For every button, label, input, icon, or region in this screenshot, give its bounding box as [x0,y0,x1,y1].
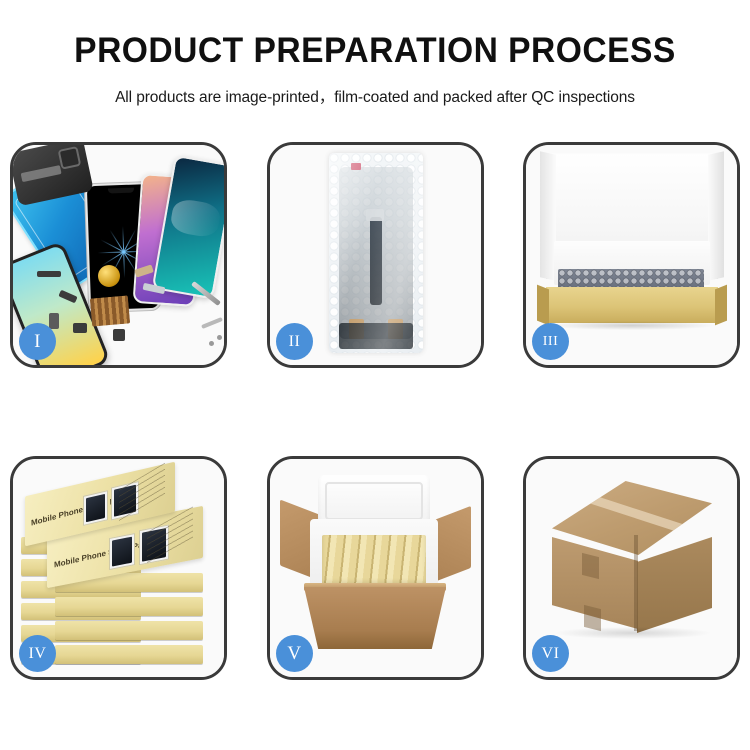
step-badge-1: I [19,323,56,360]
stacked-box [55,621,203,640]
stacked-box [55,597,203,616]
box-spec-lines [119,463,165,524]
process-step-panel-2[interactable]: II [267,142,484,368]
carton-corner-seam [634,535,638,631]
housing-strip [21,165,62,182]
process-step-panel-3[interactable]: III [523,142,740,368]
spare-part-icon-6 [49,313,59,329]
screw-icon-2 [217,335,222,340]
process-step-grid: I II [0,0,750,750]
process-step-panel-6[interactable]: VI [523,456,740,680]
box-label-text: Mobile Phone Spare Parts [54,538,153,570]
stacked-box [55,645,203,664]
kraft-box-base-icon [546,287,718,323]
box-shadow [550,321,714,330]
product-preparation-page: PRODUCT PREPARATION PROCESS All products… [0,0,750,750]
step-badge-5: V [276,635,313,672]
process-step-panel-5[interactable]: V [267,456,484,680]
step-badge-2: II [276,323,313,360]
phone-notch [108,188,134,194]
packed-boxes-icon [322,535,426,585]
step-badge-3: III [532,323,569,360]
spare-part-icon-1 [37,271,61,277]
product-window-1 [109,533,135,570]
process-step-panel-1[interactable]: I [10,142,227,368]
bubble-wrap-package-icon [329,153,423,353]
process-step-panel-4[interactable]: Mobile Phone Spare Parts Mobile Phone Sp… [10,456,227,680]
product-window-1 [83,490,108,526]
step-badge-6: VI [532,635,569,672]
plastic-gloss-overlay [329,153,423,353]
connector-chip-grid-icon [90,295,130,326]
screw-icon-1 [209,341,214,346]
step-badge-4: IV [19,635,56,672]
carton-flap-tab-1 [582,553,599,579]
spare-part-icon-5 [113,329,125,341]
carton-front-panel-icon [304,587,446,649]
camera-module-icon [58,146,82,170]
speaker-coil-icon [98,265,120,287]
carton-shadow [556,627,710,639]
spare-part-icon-4 [73,323,87,333]
